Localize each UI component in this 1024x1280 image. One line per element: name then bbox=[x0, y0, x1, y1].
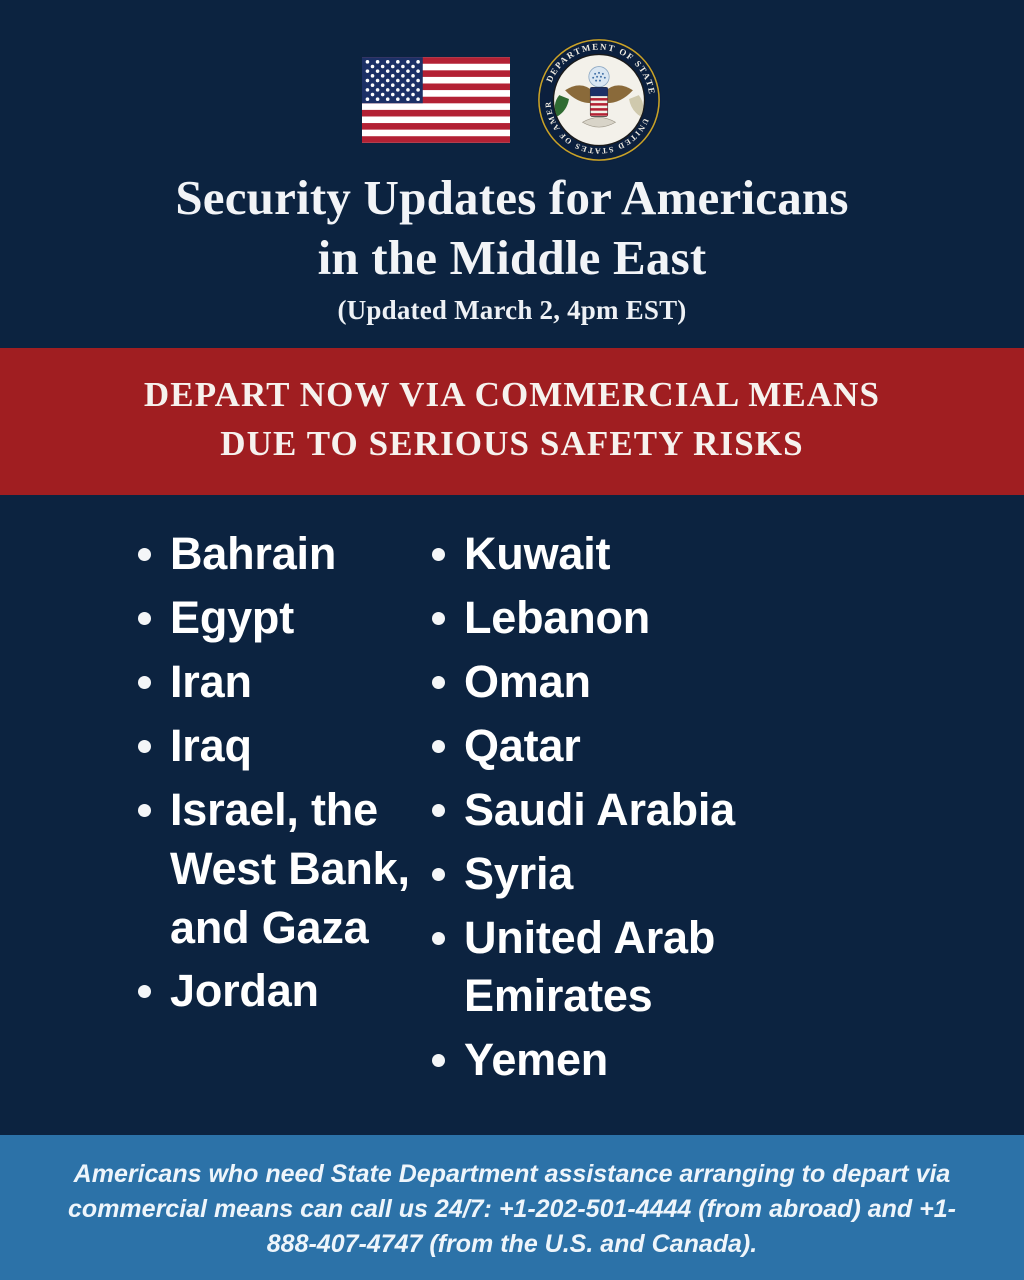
title-line-1: Security Updates for Americans bbox=[40, 168, 984, 228]
department-of-state-seal-icon: DEPARTMENT OF STATE UNITED STATES OF AME… bbox=[536, 37, 662, 163]
country-name: Iran bbox=[170, 653, 252, 712]
country-name: Lebanon bbox=[464, 589, 650, 648]
bullet-icon bbox=[138, 676, 151, 689]
bullet-icon bbox=[432, 676, 445, 689]
list-item: Kuwait bbox=[432, 525, 890, 584]
country-name: Oman bbox=[464, 653, 591, 712]
country-name: Kuwait bbox=[464, 525, 610, 584]
country-name: Bahrain bbox=[170, 525, 336, 584]
bullet-icon bbox=[138, 804, 151, 817]
country-name: Iraq bbox=[170, 717, 252, 776]
assistance-footer: Americans who need State Department assi… bbox=[0, 1135, 1024, 1280]
depart-now-banner: DEPART NOW VIA COMMERCIAL MEANS DUE TO S… bbox=[0, 348, 1024, 495]
bullet-icon bbox=[432, 804, 445, 817]
country-name: United Arab Emirates bbox=[464, 909, 890, 1027]
bullet-icon bbox=[138, 740, 151, 753]
list-item: United Arab Emirates bbox=[432, 909, 890, 1027]
list-item: Iraq bbox=[138, 717, 420, 776]
list-item: Oman bbox=[432, 653, 890, 712]
country-name: Yemen bbox=[464, 1031, 608, 1090]
country-name: Saudi Arabia bbox=[464, 781, 735, 840]
country-column-left: Bahrain Egypt Iran Iraq Israel, the West… bbox=[0, 525, 420, 1135]
poster-header: DEPARTMENT OF STATE UNITED STATES OF AME… bbox=[0, 0, 1024, 326]
bullet-icon bbox=[432, 932, 445, 945]
country-name: Jordan bbox=[170, 962, 319, 1021]
logo-row: DEPARTMENT OF STATE UNITED STATES OF AME… bbox=[0, 52, 1024, 148]
security-update-poster: DEPARTMENT OF STATE UNITED STATES OF AME… bbox=[0, 0, 1024, 1280]
page-title: Security Updates for Americans in the Mi… bbox=[0, 148, 1024, 326]
list-item: Egypt bbox=[138, 589, 420, 648]
list-item: Israel, the West Bank, and Gaza bbox=[138, 781, 420, 958]
bullet-icon bbox=[138, 612, 151, 625]
us-flag-icon bbox=[362, 57, 510, 143]
country-column-right: Kuwait Lebanon Oman Qatar Saudi Arabia S… bbox=[420, 525, 890, 1135]
bullet-icon bbox=[138, 985, 151, 998]
bullet-icon bbox=[432, 548, 445, 561]
list-item: Iran bbox=[138, 653, 420, 712]
bullet-icon bbox=[432, 740, 445, 753]
updated-timestamp: (Updated March 2, 4pm EST) bbox=[40, 295, 984, 326]
bullet-icon bbox=[432, 612, 445, 625]
list-item: Syria bbox=[432, 845, 890, 904]
banner-line-2: DUE TO SERIOUS SAFETY RISKS bbox=[30, 419, 994, 469]
country-name: Qatar bbox=[464, 717, 581, 776]
list-item: Qatar bbox=[432, 717, 890, 776]
country-name: Egypt bbox=[170, 589, 294, 648]
list-item: Bahrain bbox=[138, 525, 420, 584]
list-item: Yemen bbox=[432, 1031, 890, 1090]
bullet-icon bbox=[432, 1054, 445, 1067]
country-name: Syria bbox=[464, 845, 573, 904]
bullet-icon bbox=[432, 868, 445, 881]
title-line-2: in the Middle East bbox=[40, 228, 984, 288]
list-item: Saudi Arabia bbox=[432, 781, 890, 840]
list-item: Lebanon bbox=[432, 589, 890, 648]
bullet-icon bbox=[138, 548, 151, 561]
country-list-section: Bahrain Egypt Iran Iraq Israel, the West… bbox=[0, 495, 1024, 1135]
banner-line-1: DEPART NOW VIA COMMERCIAL MEANS bbox=[30, 370, 994, 420]
footer-contact-text: Americans who need State Department assi… bbox=[46, 1157, 978, 1262]
list-item: Jordan bbox=[138, 962, 420, 1021]
country-name: Israel, the West Bank, and Gaza bbox=[170, 781, 420, 958]
